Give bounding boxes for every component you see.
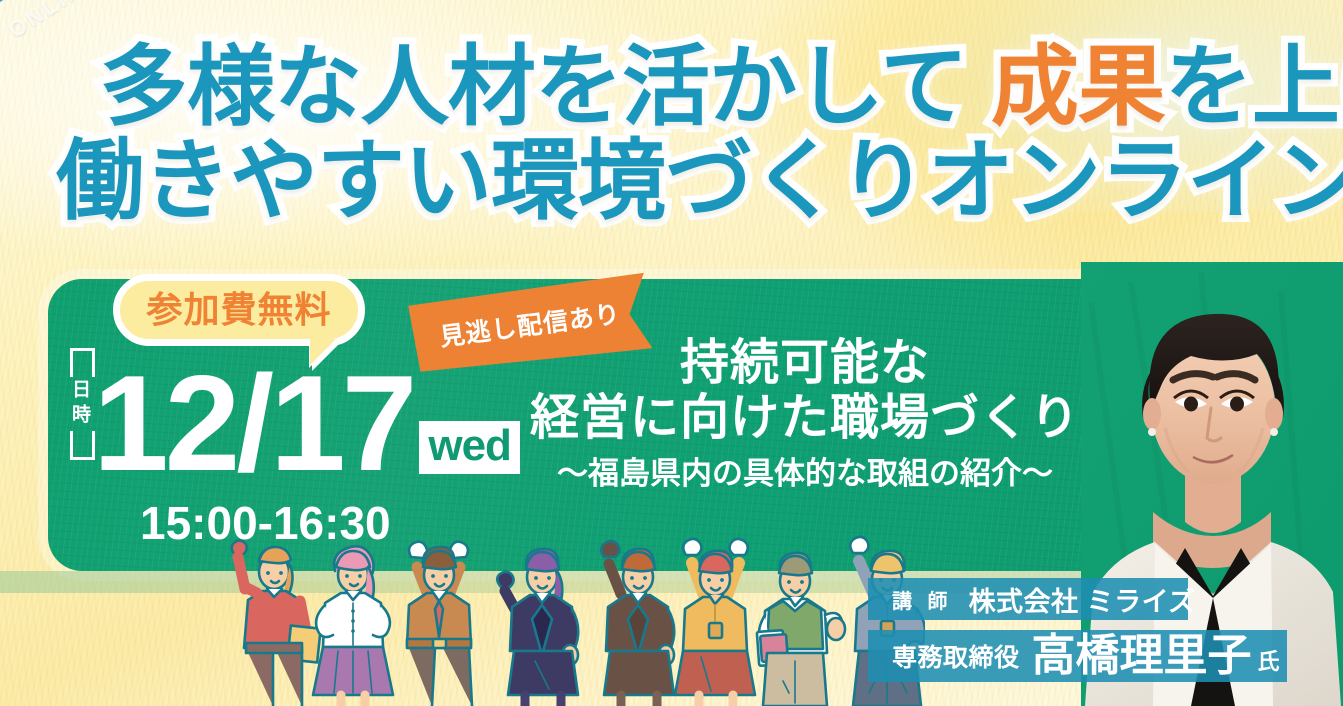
business-people-illustration (205, 531, 925, 706)
headline-line-1: 多様な人材を活かして 成果を上げる (100, 44, 1316, 130)
headline-line1-part1: 多様な人材を活かして (100, 37, 991, 136)
headline-line1-accent: 成果 (991, 37, 1165, 136)
speaker-position: 専務取締役 (892, 638, 1020, 674)
free-admission-badge: 参加費無料 (113, 274, 365, 346)
date-block: 日時 12/17 wed 15:00-16:30 (70, 348, 500, 550)
free-admission-label: 参加費無料 (146, 292, 331, 328)
speaker-name-band: 専務取締役 高橋理里子 氏 (868, 630, 1287, 682)
datetime-label-bracket: 日時 (70, 348, 89, 460)
headline: 多様な人材を活かして 成果を上げる 働きやすい環境づくりオンラインセミナー (56, 44, 1316, 224)
datetime-label: 日時 (70, 379, 89, 429)
date-row: 日時 12/17 wed (70, 348, 500, 486)
person-5 (601, 541, 674, 706)
person-1 (232, 541, 321, 706)
seminar-banner: ONLINE SEMINAR 多様な人材を活かして 成果を上げる 働きやすい環境… (0, 0, 1343, 706)
subject-line-3: ～福島県内の具体的な取組の紹介～ (505, 454, 1105, 494)
speaker-name: 高橋理里子 (1032, 634, 1252, 678)
person-2 (313, 546, 393, 706)
person-6 (675, 539, 755, 706)
subject-line-2: 経営に向けた職場づくり (505, 391, 1105, 446)
person-3 (407, 542, 472, 706)
speaker-name-suffix: 氏 (1258, 644, 1280, 676)
headline-line1-part2: を上げる (1165, 37, 1343, 136)
speaker-role-label: 講 師 (892, 585, 953, 614)
person-7 (757, 553, 845, 706)
seminar-subject: 持続可能な 経営に向けた職場づくり ～福島県内の具体的な取組の紹介～ (505, 336, 1105, 494)
headline-line-2: 働きやすい環境づくりオンラインセミナー (56, 138, 1316, 224)
date-value: 12/17 (93, 361, 413, 486)
subject-line-1: 持続可能な (505, 336, 1105, 391)
person-4 (497, 549, 578, 706)
speaker-company-name: 株式会社 ミライズ (969, 580, 1196, 619)
speaker-company-band: 講 師 株式会社 ミライズ (868, 578, 1188, 620)
